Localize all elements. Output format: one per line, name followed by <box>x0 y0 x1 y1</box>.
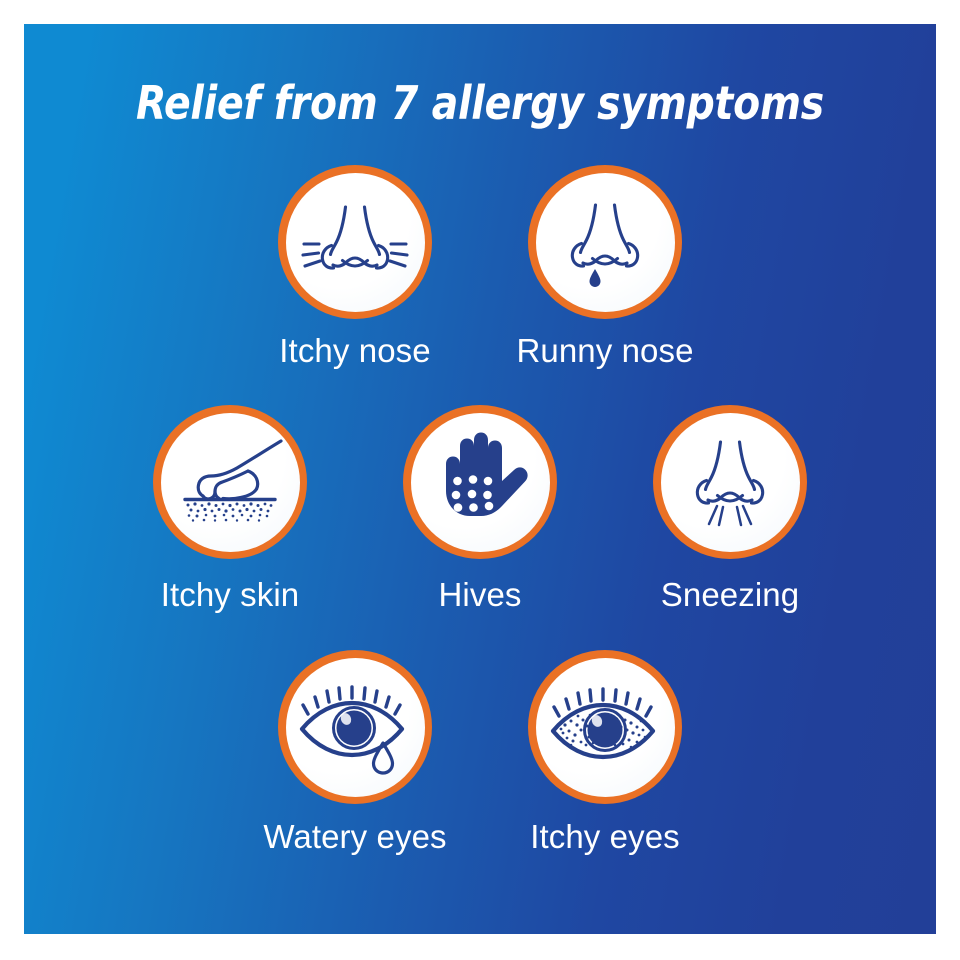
symptom-badge <box>278 165 432 319</box>
badge-inner <box>536 658 675 797</box>
symptom-badge <box>653 405 807 559</box>
eyelashes <box>303 687 400 714</box>
symptom-tile-runny-nose[interactable]: Runny nose <box>480 165 730 369</box>
badge-inner <box>536 173 675 312</box>
symptom-label: Itchy nose <box>279 333 430 369</box>
symptom-tile-sneezing[interactable]: Sneezing <box>605 405 855 613</box>
symptom-row-1: Itchy nose <box>24 165 936 369</box>
symptom-tile-itchy-eyes[interactable]: Itchy eyes <box>480 650 730 855</box>
symptom-badge <box>528 165 682 319</box>
symptom-badge <box>403 405 557 559</box>
badge-inner <box>286 658 425 797</box>
itchy-nose-icon <box>300 187 410 297</box>
symptom-label: Watery eyes <box>263 819 446 855</box>
itchy-skin-icon <box>171 423 289 541</box>
symptom-badge <box>153 405 307 559</box>
nose-drip-drop <box>590 269 601 287</box>
badge-inner <box>411 413 550 552</box>
badge-inner <box>661 413 800 552</box>
sneeze-spray-lines <box>709 506 751 525</box>
symptom-badge <box>528 650 682 804</box>
symptom-label: Itchy eyes <box>530 819 680 855</box>
sneezing-nose-icon <box>675 426 785 538</box>
watery-eye-icon <box>295 671 415 783</box>
symptom-label: Runny nose <box>516 333 693 369</box>
hive-spots <box>452 475 494 512</box>
symptom-badge <box>278 650 432 804</box>
badge-inner <box>161 413 300 552</box>
badge-inner <box>286 173 425 312</box>
symptom-tile-itchy-nose[interactable]: Itchy nose <box>230 165 480 369</box>
symptom-row-2: Itchy skin <box>24 405 936 613</box>
symptom-label: Sneezing <box>661 577 799 613</box>
skin-speckles <box>187 502 273 521</box>
symptom-tile-hives[interactable]: Hives <box>355 405 605 613</box>
allergy-symptoms-infographic: Relief from 7 allergy symptoms <box>24 24 936 934</box>
hives-hand-icon <box>428 426 532 538</box>
symptom-label: Hives <box>438 577 521 613</box>
symptom-tile-watery-eyes[interactable]: Watery eyes <box>230 650 480 855</box>
itchy-eye-icon <box>545 675 665 779</box>
page-title: Relief from 7 allergy symptoms <box>47 76 913 130</box>
symptom-label: Itchy skin <box>161 577 300 613</box>
symptom-tile-itchy-skin[interactable]: Itchy skin <box>105 405 355 613</box>
eyelashes <box>554 689 651 716</box>
symptom-row-3: Watery eyes <box>24 650 936 855</box>
runny-nose-icon <box>550 187 660 297</box>
